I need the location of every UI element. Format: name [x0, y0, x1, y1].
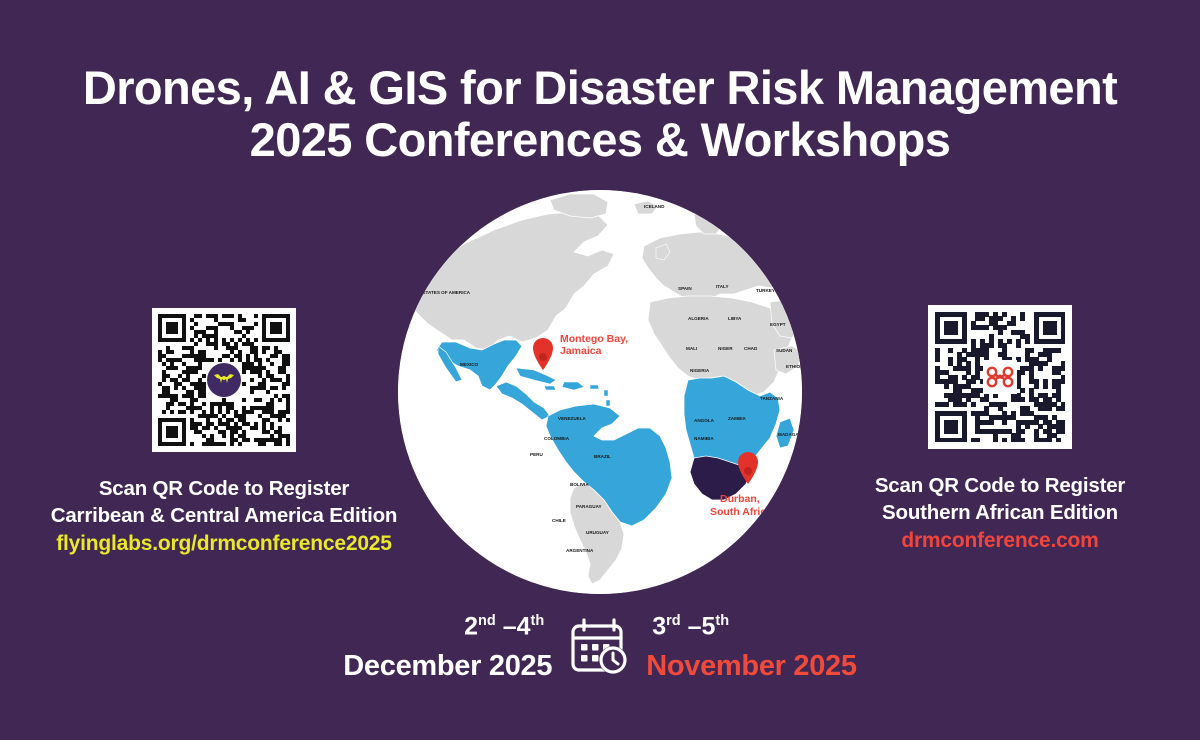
svg-text:ARGENTINA: ARGENTINA: [566, 548, 594, 553]
svg-text:COLOMBIA: COLOMBIA: [544, 436, 570, 441]
pin-hole: [744, 467, 752, 475]
title-line-1: Drones, AI & GIS for Disaster Risk Manag…: [0, 62, 1200, 114]
qr-caption-southern-africa: Scan QR Code to Register Southern Africa…: [828, 472, 1172, 526]
date-month-year-december: December 2025: [343, 652, 552, 681]
svg-text:ETHIOPIA: ETHIOPIA: [786, 364, 802, 369]
calendar-clock-icon: [568, 616, 630, 683]
day-end-suffix: th: [531, 613, 545, 629]
svg-text:TED STATES OF AMERICA: TED STATES OF AMERICA: [412, 290, 471, 295]
world-map-svg: ICELAND TED STATES OF AMERICA MEXICO BRA…: [398, 190, 802, 594]
svg-text:NIGERIA: NIGERIA: [690, 368, 710, 373]
qr-caption-line1: Scan QR Code to Register: [28, 475, 420, 502]
svg-text:PERU: PERU: [530, 452, 543, 457]
pin-hole: [539, 353, 547, 361]
date-dash: –: [688, 613, 702, 641]
svg-text:SPAIN: SPAIN: [678, 286, 692, 291]
svg-text:CHILE: CHILE: [552, 518, 566, 523]
day-start: 3: [652, 613, 666, 641]
qr-caption-caribbean: Scan QR Code to Register Carribean & Cen…: [28, 475, 420, 529]
land-puerto-rico: [590, 385, 599, 389]
dates-row: 2nd –4th December 2025: [0, 612, 1200, 683]
day-end: 4: [517, 613, 531, 641]
conference-poster: Drones, AI & GIS for Disaster Risk Manag…: [0, 0, 1200, 740]
svg-text:VENEZUELA: VENEZUELA: [558, 416, 587, 421]
qr-panel-southern-africa: Scan QR Code to Register Southern Africa…: [828, 305, 1172, 553]
svg-text:TURKEY: TURKEY: [756, 288, 775, 293]
land-jamaica: [544, 386, 556, 390]
qr-caption-line1: Scan QR Code to Register: [828, 472, 1172, 499]
svg-text:ALGERIA: ALGERIA: [688, 316, 709, 321]
qr-caption-line2: Carribean & Central America Edition: [28, 502, 420, 529]
day-end: 5: [701, 613, 715, 641]
drone-icon: [983, 360, 1017, 394]
pin-label-line2: South Africa: [710, 506, 772, 518]
svg-text:NIGER: NIGER: [718, 346, 733, 351]
qr-caption-line2: Southern African Edition: [828, 499, 1172, 526]
svg-text:BRAZIL: BRAZIL: [594, 454, 611, 459]
qr-code-caribbean[interactable]: [152, 308, 296, 452]
calendar-clock-glyph: [568, 616, 630, 678]
svg-text:PARAGUAY: PARAGUAY: [576, 504, 602, 509]
flyinglabs-drone-icon: [207, 363, 241, 397]
date-block-december: 2nd –4th December 2025: [343, 614, 552, 680]
svg-text:URUGUAY: URUGUAY: [586, 530, 609, 535]
qr-url-caribbean[interactable]: flyinglabs.org/drmconference2025: [28, 532, 420, 556]
svg-text:ANGOLA: ANGOLA: [694, 418, 715, 423]
svg-text:MALI: MALI: [686, 346, 697, 351]
qr-code-southern-africa[interactable]: [928, 305, 1072, 449]
title-line-2: 2025 Conferences & Workshops: [0, 114, 1200, 166]
date-dash: –: [503, 613, 517, 641]
pin-label-line1: Durban,: [720, 493, 760, 505]
drone-glyph: [213, 372, 235, 388]
qr-url-southern-africa[interactable]: drmconference.com: [828, 529, 1172, 553]
day-end-suffix: th: [715, 613, 729, 629]
day-start: 2: [464, 613, 478, 641]
poster-title: Drones, AI & GIS for Disaster Risk Manag…: [0, 62, 1200, 166]
pin-label-line1: Montego Bay,: [560, 333, 628, 345]
svg-text:ZAMBIA: ZAMBIA: [728, 416, 747, 421]
day-start-suffix: nd: [478, 613, 496, 629]
svg-text:EGYPT: EGYPT: [770, 322, 786, 327]
svg-text:MADAGASCAR: MADAGASCAR: [778, 432, 802, 437]
svg-text:NAMIBIA: NAMIBIA: [694, 436, 714, 441]
drone-glyph: [985, 365, 1015, 389]
svg-text:MEXICO: MEXICO: [460, 362, 479, 367]
svg-text:ICELAND: ICELAND: [644, 204, 665, 209]
world-map-globe: ICELAND TED STATES OF AMERICA MEXICO BRA…: [398, 190, 802, 594]
date-block-november: 3rd –5th November 2025: [646, 614, 857, 680]
date-month-year-november: November 2025: [646, 652, 857, 681]
svg-text:LIBYA: LIBYA: [728, 316, 742, 321]
qr-panel-caribbean: Scan QR Code to Register Carribean & Cen…: [28, 308, 420, 556]
day-start-suffix: rd: [666, 613, 681, 629]
svg-text:CHAD: CHAD: [744, 346, 758, 351]
date-range-december: 2nd –4th: [343, 614, 552, 639]
date-range-november: 3rd –5th: [646, 614, 857, 639]
svg-text:SUDAN: SUDAN: [776, 348, 793, 353]
svg-text:ITALY: ITALY: [716, 284, 729, 289]
svg-text:TANZANIA: TANZANIA: [760, 396, 784, 401]
svg-text:BOLIVIA: BOLIVIA: [570, 482, 589, 487]
pin-label-line2: Jamaica: [560, 345, 602, 357]
